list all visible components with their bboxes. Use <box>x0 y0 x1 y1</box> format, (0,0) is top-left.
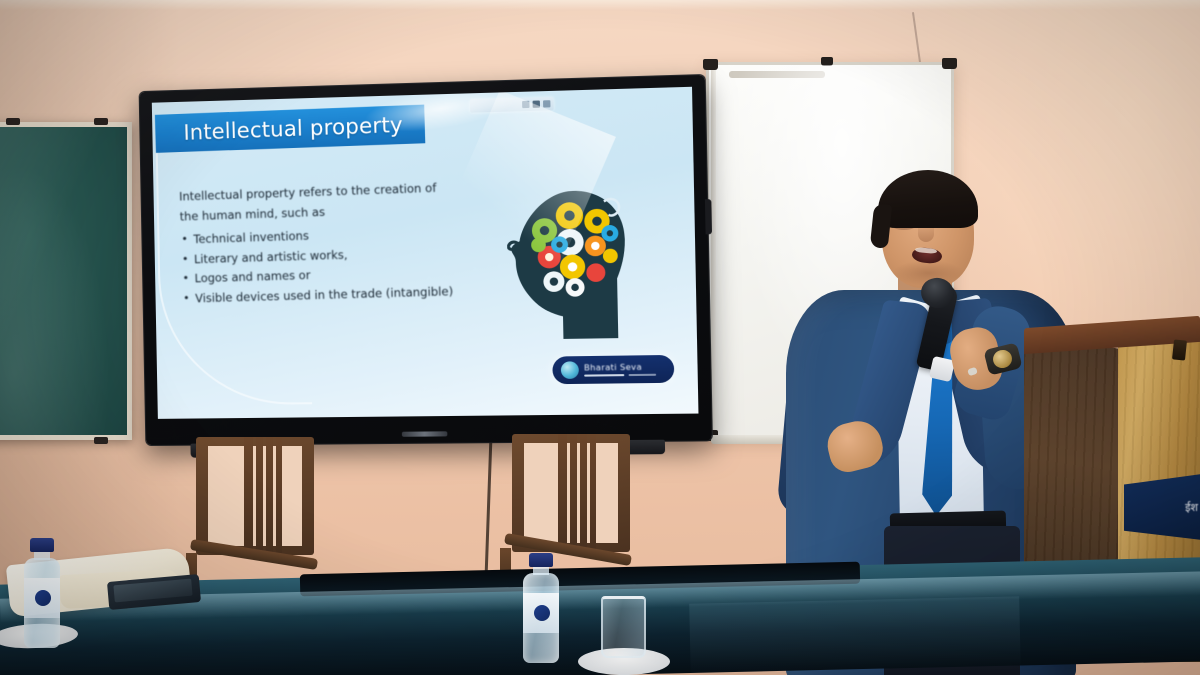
chalkboard-clip-top <box>94 118 108 125</box>
interactive-smart-display[interactable]: Intellectual property Intellectual prope… <box>140 75 712 445</box>
logo-globe-icon <box>561 361 579 379</box>
logo-subtitle <box>584 373 666 377</box>
brain-gears-illustration <box>506 183 644 340</box>
bottle-cap <box>529 553 553 567</box>
presentation-logo: Bharati Seva <box>552 355 674 384</box>
slide-bullet-list: Technical inventions Literary and artist… <box>180 222 458 309</box>
chair-backrest <box>196 437 314 555</box>
chair-slat <box>244 437 253 555</box>
logo-rule-2 <box>629 373 657 376</box>
bottle-cap <box>30 538 54 552</box>
menu-icon[interactable] <box>522 101 529 108</box>
pen-icon[interactable] <box>533 100 540 107</box>
whiteboard-clip-tl <box>703 59 718 70</box>
close-icon[interactable] <box>543 100 550 107</box>
whiteboard-clip-tr <box>942 58 957 69</box>
slide-title: Intellectual property <box>183 113 403 145</box>
logo-text-block: Bharati Seva <box>584 362 666 377</box>
chalkboard-clip-bottom <box>94 437 108 444</box>
bottle-label-mark <box>35 590 51 606</box>
bottle-neck <box>533 566 549 575</box>
chair-slat <box>590 434 596 552</box>
presenter-hair <box>878 170 978 228</box>
logo-name: Bharati Seva <box>584 362 666 372</box>
chalkboard-clip-top-left <box>6 118 20 125</box>
slide-title-bar: Intellectual property <box>155 105 425 153</box>
display-screen[interactable]: Intellectual property Intellectual prope… <box>152 87 699 419</box>
chair-slat <box>256 437 263 555</box>
display-toolbar[interactable] <box>470 97 554 113</box>
lecture-hall-scene: Intellectual property Intellectual prope… <box>0 0 1200 675</box>
slide-body: Intellectual property refers to the crea… <box>179 178 458 309</box>
drinking-glass[interactable] <box>601 596 646 658</box>
slide-lead-text: Intellectual property refers to the crea… <box>179 178 455 227</box>
podium-clip <box>1172 339 1187 360</box>
chair-slat <box>558 434 567 552</box>
whiteboard-marker-holder <box>729 71 825 78</box>
green-chalkboard <box>0 122 132 440</box>
display-brand-logo <box>401 431 447 436</box>
display-side-button[interactable] <box>705 199 712 234</box>
presentation-slide: Intellectual property Intellectual prope… <box>152 87 699 419</box>
chair-backrest <box>512 434 630 552</box>
whiteboard-edge <box>711 69 716 439</box>
chair-slat <box>276 437 282 555</box>
podium-emblem-text: ईश <box>1185 500 1200 515</box>
logo-rule <box>584 374 624 377</box>
podium-emblem: ईश <box>1124 474 1200 540</box>
chair-slat <box>570 434 577 552</box>
bottle-neck <box>34 551 50 560</box>
bottle-label-mark <box>534 605 550 621</box>
table-reflection <box>689 596 1021 675</box>
chair-slat <box>580 434 587 552</box>
chair-slat <box>266 437 273 555</box>
chair-back-gap <box>208 446 302 546</box>
whiteboard-clip-top-center <box>821 57 833 66</box>
